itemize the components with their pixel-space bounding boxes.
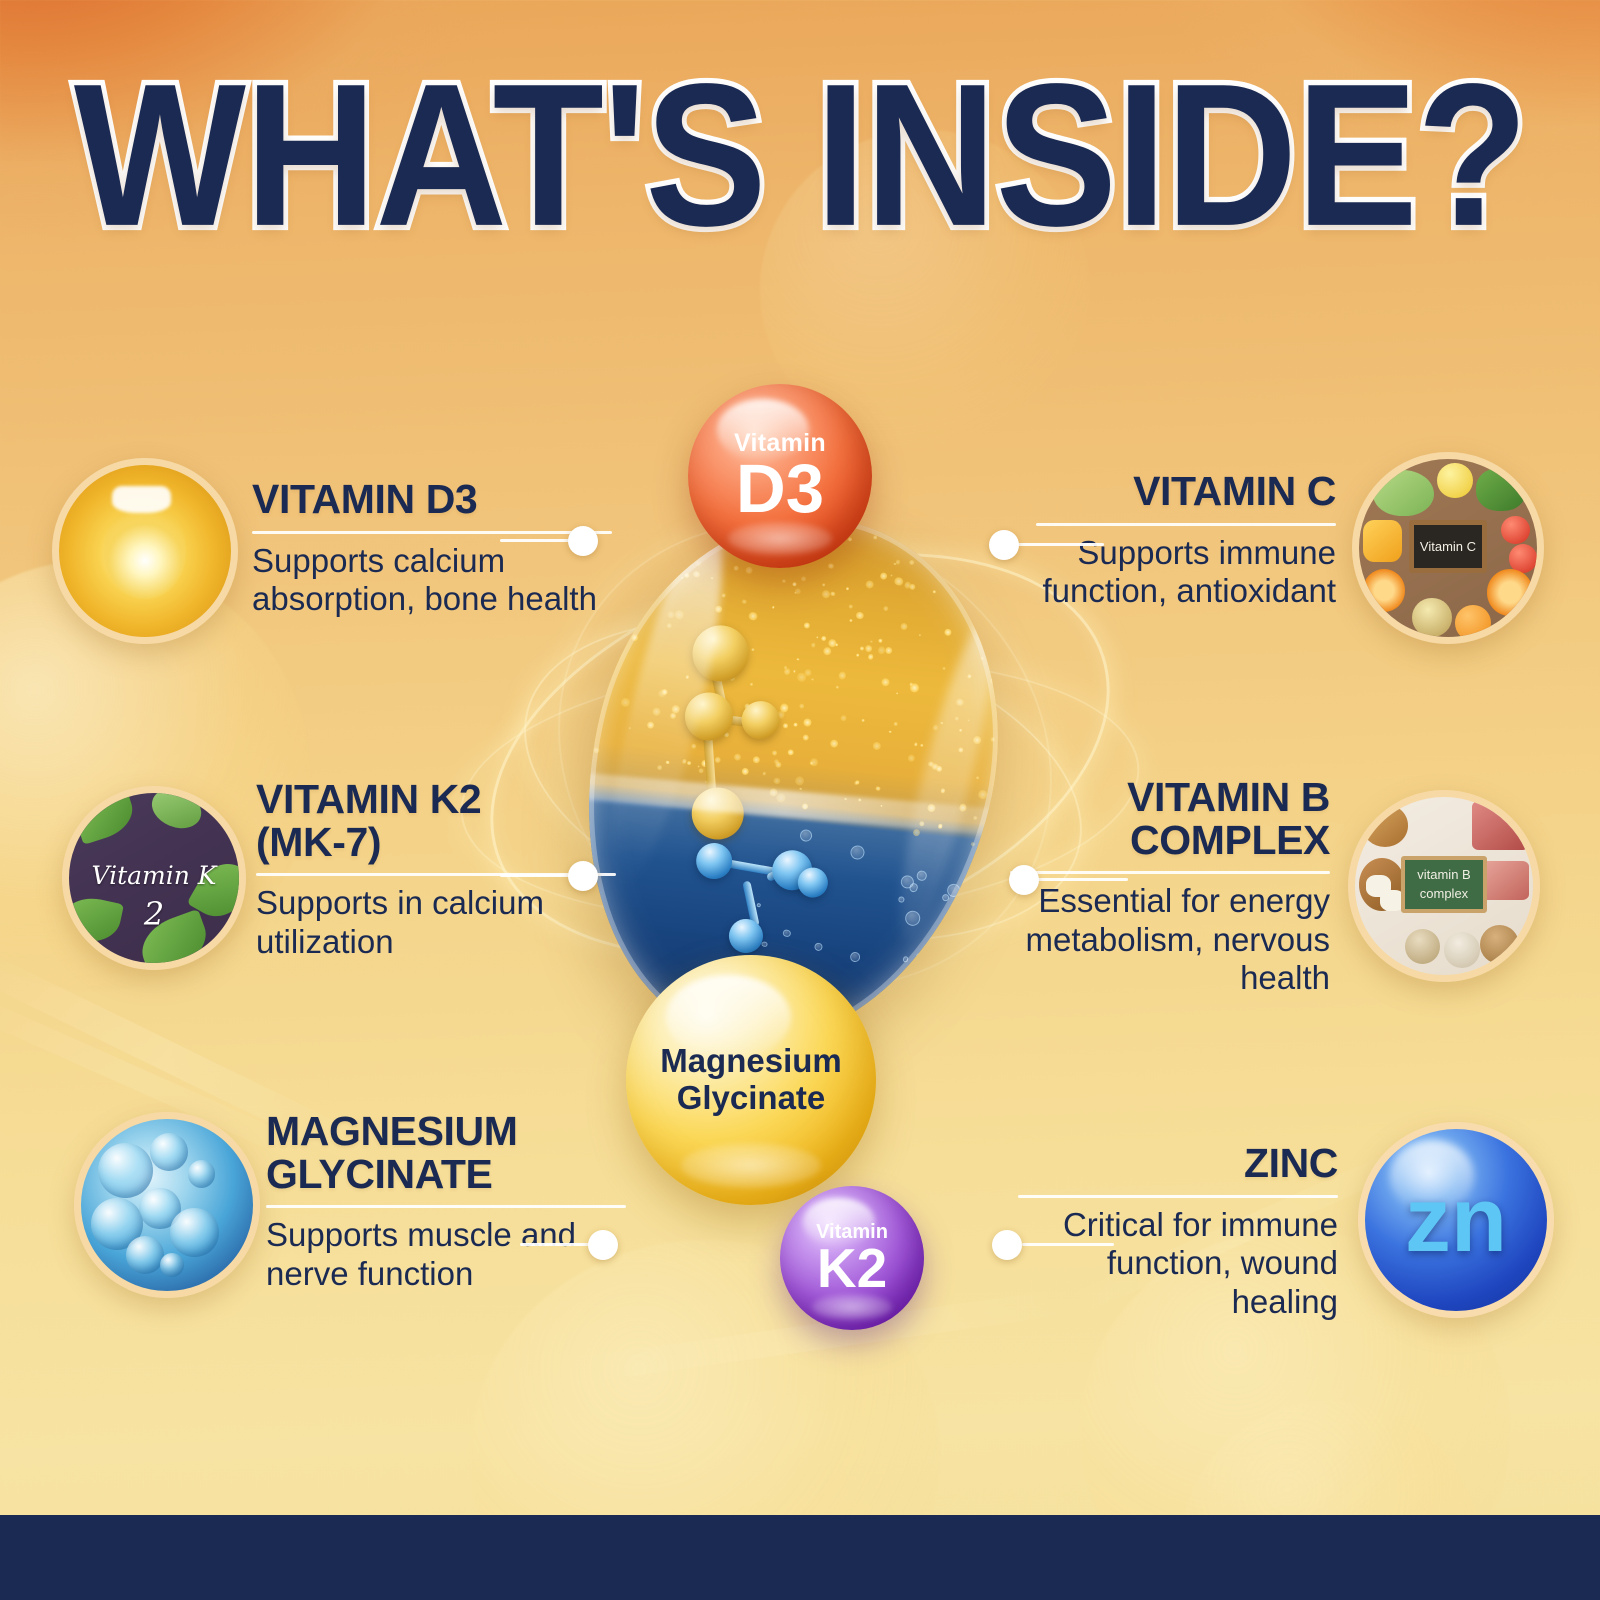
bubble <box>188 1160 216 1188</box>
magnesium-glycinate-text-block: MAGNESIUM GLYCINATE Supports muscle and … <box>266 1110 626 1293</box>
vitamin-b-icon-text-line2: complex <box>1420 884 1468 904</box>
vitamin-b-icon-text-line1: vitamin B <box>1417 865 1470 885</box>
grain-jar-icon <box>1444 932 1480 968</box>
magnesium-glycinate-description: Supports muscle and nerve function <box>266 1216 626 1293</box>
magnesium-heading-line1: MAGNESIUM <box>266 1108 518 1154</box>
magnesium-heading-line2: GLYCINATE <box>266 1151 493 1197</box>
vitamin-k2-heading-line2: (MK-7) <box>256 819 381 865</box>
vitamin-c-text-block: VITAMIN C Supports immune function, anti… <box>1036 470 1336 611</box>
connector-dot[interactable] <box>568 526 598 556</box>
bottom-bar <box>0 1515 1600 1600</box>
zinc-description: Critical for immune function, wound heal… <box>1018 1206 1338 1322</box>
grain-jar-icon <box>1405 929 1441 965</box>
zinc-sphere-icon: zn <box>1358 1122 1554 1318</box>
magnesium-bubble-label-line1: Magnesium <box>660 1042 842 1079</box>
passionfruit-icon <box>1412 598 1451 637</box>
vitamin-k2-heading: VITAMIN K2 (MK-7) <box>256 778 616 863</box>
bubble <box>126 1236 164 1274</box>
tomato-icon <box>1501 516 1529 544</box>
vitamin-k2-bubble: Vitamin K2 <box>780 1186 924 1330</box>
magnesium-glycinate-heading: MAGNESIUM GLYCINATE <box>266 1110 626 1195</box>
vitamin-b-chalkboard-icon: vitamin B complex <box>1348 790 1540 982</box>
connector-dot[interactable] <box>568 861 598 891</box>
page-title: WHAT'S INSIDE? <box>73 62 1526 249</box>
vitamin-b-heading-line1: VITAMIN B <box>1127 774 1330 820</box>
magnesium-bubble-label: Magnesium Glycinate <box>660 1043 842 1117</box>
divider <box>1018 1195 1338 1198</box>
meat-icon <box>1480 861 1530 900</box>
vitamin-k2-heading-line1: VITAMIN K2 <box>256 776 481 822</box>
zinc-text-block: ZINC Critical for immune function, wound… <box>1018 1142 1338 1321</box>
cabbage-icon <box>1373 470 1434 516</box>
bubble-highlight <box>681 1143 821 1188</box>
connector-dot[interactable] <box>989 530 1019 560</box>
blue-bubbles-icon <box>74 1112 260 1298</box>
vitamin-c-icon-text: Vitamin C <box>1409 520 1487 573</box>
connector-line <box>1036 878 1128 881</box>
connector-dot[interactable] <box>588 1230 618 1260</box>
bowl-icon <box>1362 804 1408 847</box>
oil-droplet-icon <box>52 458 238 644</box>
zinc-heading: ZINC <box>1018 1142 1338 1185</box>
magnesium-bubble-label-line2: Glycinate <box>677 1079 826 1116</box>
vitamin-k2-chalkboard-icon: Vitamin K 2 <box>62 786 246 970</box>
vitamin-k2-icon-text-line2: 2 <box>69 895 239 933</box>
connector-dot[interactable] <box>992 1230 1022 1260</box>
grain-jar-icon <box>1480 925 1519 964</box>
vitamin-b-icon-text: vitamin B complex <box>1401 856 1486 913</box>
divider <box>1010 871 1330 874</box>
vitamin-k2-icon-text-line1: Vitamin K <box>69 861 239 890</box>
meat-icon <box>1472 801 1529 851</box>
page-title-container: WHAT'S INSIDE? <box>0 62 1600 220</box>
bubble <box>150 1133 188 1171</box>
leaf-icon <box>71 788 139 845</box>
lemon-icon <box>1437 463 1473 499</box>
connector-line <box>1022 1243 1114 1246</box>
broccoli-icon <box>1476 468 1526 511</box>
vitamin-d3-text-block: VITAMIN D3 Supports calcium absorption, … <box>252 478 612 619</box>
vitamin-d3-description: Supports calcium absorption, bone health <box>252 542 612 619</box>
vitamin-d3-heading: VITAMIN D3 <box>252 478 612 521</box>
vitamin-b-complex-heading: VITAMIN B COMPLEX <box>1010 776 1330 861</box>
vitamin-b-complex-description: Essential for energy metabolism, nervous… <box>1010 882 1330 998</box>
bubble <box>170 1208 218 1256</box>
divider <box>266 1205 626 1208</box>
bubble <box>98 1143 153 1198</box>
vitamin-k2-description: Supports in calcium utilization <box>256 884 616 961</box>
connector-line <box>1012 543 1104 546</box>
orange-icon <box>1455 605 1491 641</box>
magnesium-glycinate-bubble: Magnesium Glycinate <box>626 955 876 1205</box>
mango-icon <box>1363 520 1402 563</box>
orange-slice-icon <box>1487 569 1533 615</box>
vitamin-b-heading-line2: COMPLEX <box>1130 817 1330 863</box>
vitamin-k2-bubble-label: K2 <box>817 1241 887 1296</box>
vitamin-b-complex-text-block: VITAMIN B COMPLEX Essential for energy m… <box>1010 776 1330 998</box>
divider <box>1036 523 1336 526</box>
cucumber-icon <box>145 786 206 835</box>
bubble <box>160 1253 184 1277</box>
vitamin-c-fruits-icon: Vitamin C <box>1352 452 1544 644</box>
zinc-icon-text: zn <box>1365 1174 1547 1266</box>
vitamin-d3-bubble-label: D3 <box>736 454 824 523</box>
orange-slice-icon <box>1363 569 1406 612</box>
vitamin-c-heading: VITAMIN C <box>1036 470 1336 513</box>
vitamin-k2-text-block: VITAMIN K2 (MK-7) Supports in calcium ut… <box>256 778 616 961</box>
divider <box>252 531 612 534</box>
vitamin-d3-bubble: Vitamin D3 <box>688 384 872 568</box>
connector-dot[interactable] <box>1009 865 1039 895</box>
